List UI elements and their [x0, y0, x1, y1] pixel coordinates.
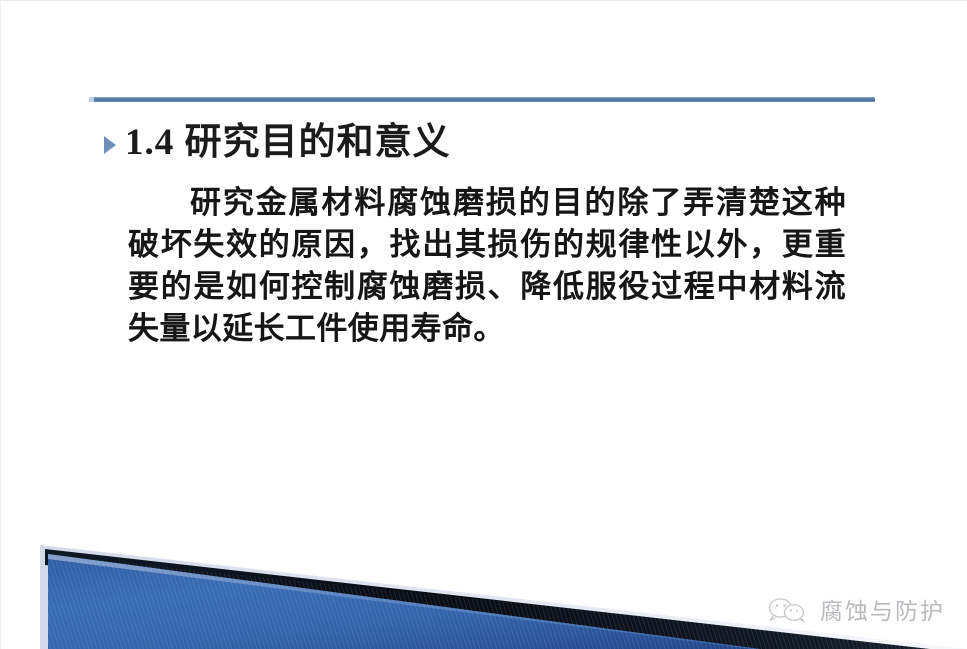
- decor-blue-wedge: [0, 509, 967, 649]
- decor-pale-wedge: [0, 509, 967, 649]
- body-text-block: 研究金属材料腐蚀磨损的目的除了弄清楚这种破坏失效的原因，找出其损伤的规律性以外，…: [128, 182, 846, 349]
- slide-title-row: 1.4 研究目的和意义: [104, 124, 451, 163]
- decor-dark-band: [0, 509, 967, 649]
- page-title: 1.4 研究目的和意义: [125, 124, 451, 163]
- watermark-label: 腐蚀与防护: [820, 600, 945, 623]
- slide-canvas: 1.4 研究目的和意义 研究金属材料腐蚀磨损的目的除了弄清楚这种破坏失效的原因，…: [0, 0, 967, 649]
- triangle-right-icon: [104, 136, 116, 154]
- watermark: 腐蚀与防护: [767, 595, 945, 627]
- wechat-icon: [767, 595, 809, 627]
- corner-decoration: [0, 509, 967, 649]
- title-divider-rule: [89, 97, 875, 102]
- body-paragraph: 研究金属材料腐蚀磨损的目的除了弄清楚这种破坏失效的原因，找出其损伤的规律性以外，…: [128, 182, 846, 349]
- decor-texture-overlay: [0, 509, 967, 649]
